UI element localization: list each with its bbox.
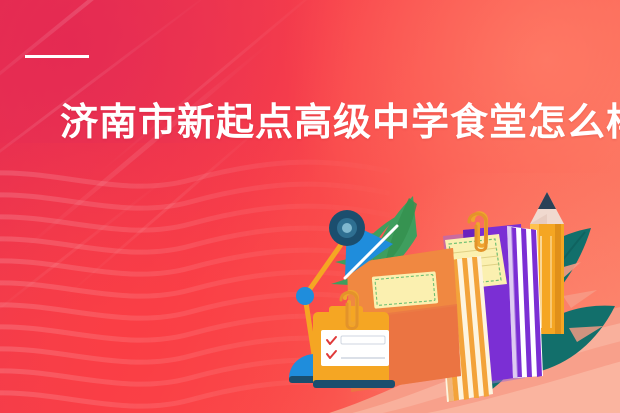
accent-rule <box>25 55 89 58</box>
page-title: 济南市新起点高级中学食堂怎么样 <box>60 100 560 146</box>
school-supplies-illustration <box>285 178 620 413</box>
purple-striped-book <box>507 226 543 378</box>
banner-card: 济南市新起点高级中学食堂怎么样 <box>0 0 620 413</box>
